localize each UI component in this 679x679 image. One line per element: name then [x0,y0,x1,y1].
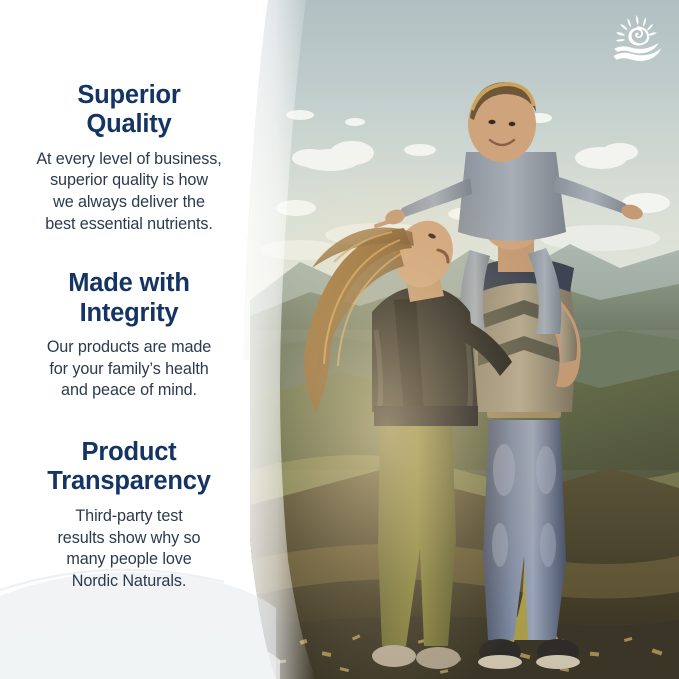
value-heading-product-transparency: Product Transparency [11,438,247,497]
values-text-column: Superior Quality At every level of busin… [0,0,258,679]
value-heading-made-with-integrity: Made with Integrity [11,269,247,328]
value-body-made-with-integrity: Our products are made for your family’s … [11,337,247,402]
value-block-product-transparency: Product Transparency Third-party test re… [11,438,247,592]
value-body-product-transparency: Third-party test results show why so man… [11,506,247,592]
value-body-superior-quality: At every level of business, superior qua… [11,149,247,235]
value-block-superior-quality: Superior Quality At every level of busin… [11,81,247,235]
sun-wave-icon [609,14,665,66]
value-heading-superior-quality: Superior Quality [11,81,247,140]
value-block-made-with-integrity: Made with Integrity Our products are mad… [11,269,247,402]
nordic-naturals-sun-wave-logo [609,14,665,66]
poster-root: Superior Quality At every level of busin… [0,0,679,679]
